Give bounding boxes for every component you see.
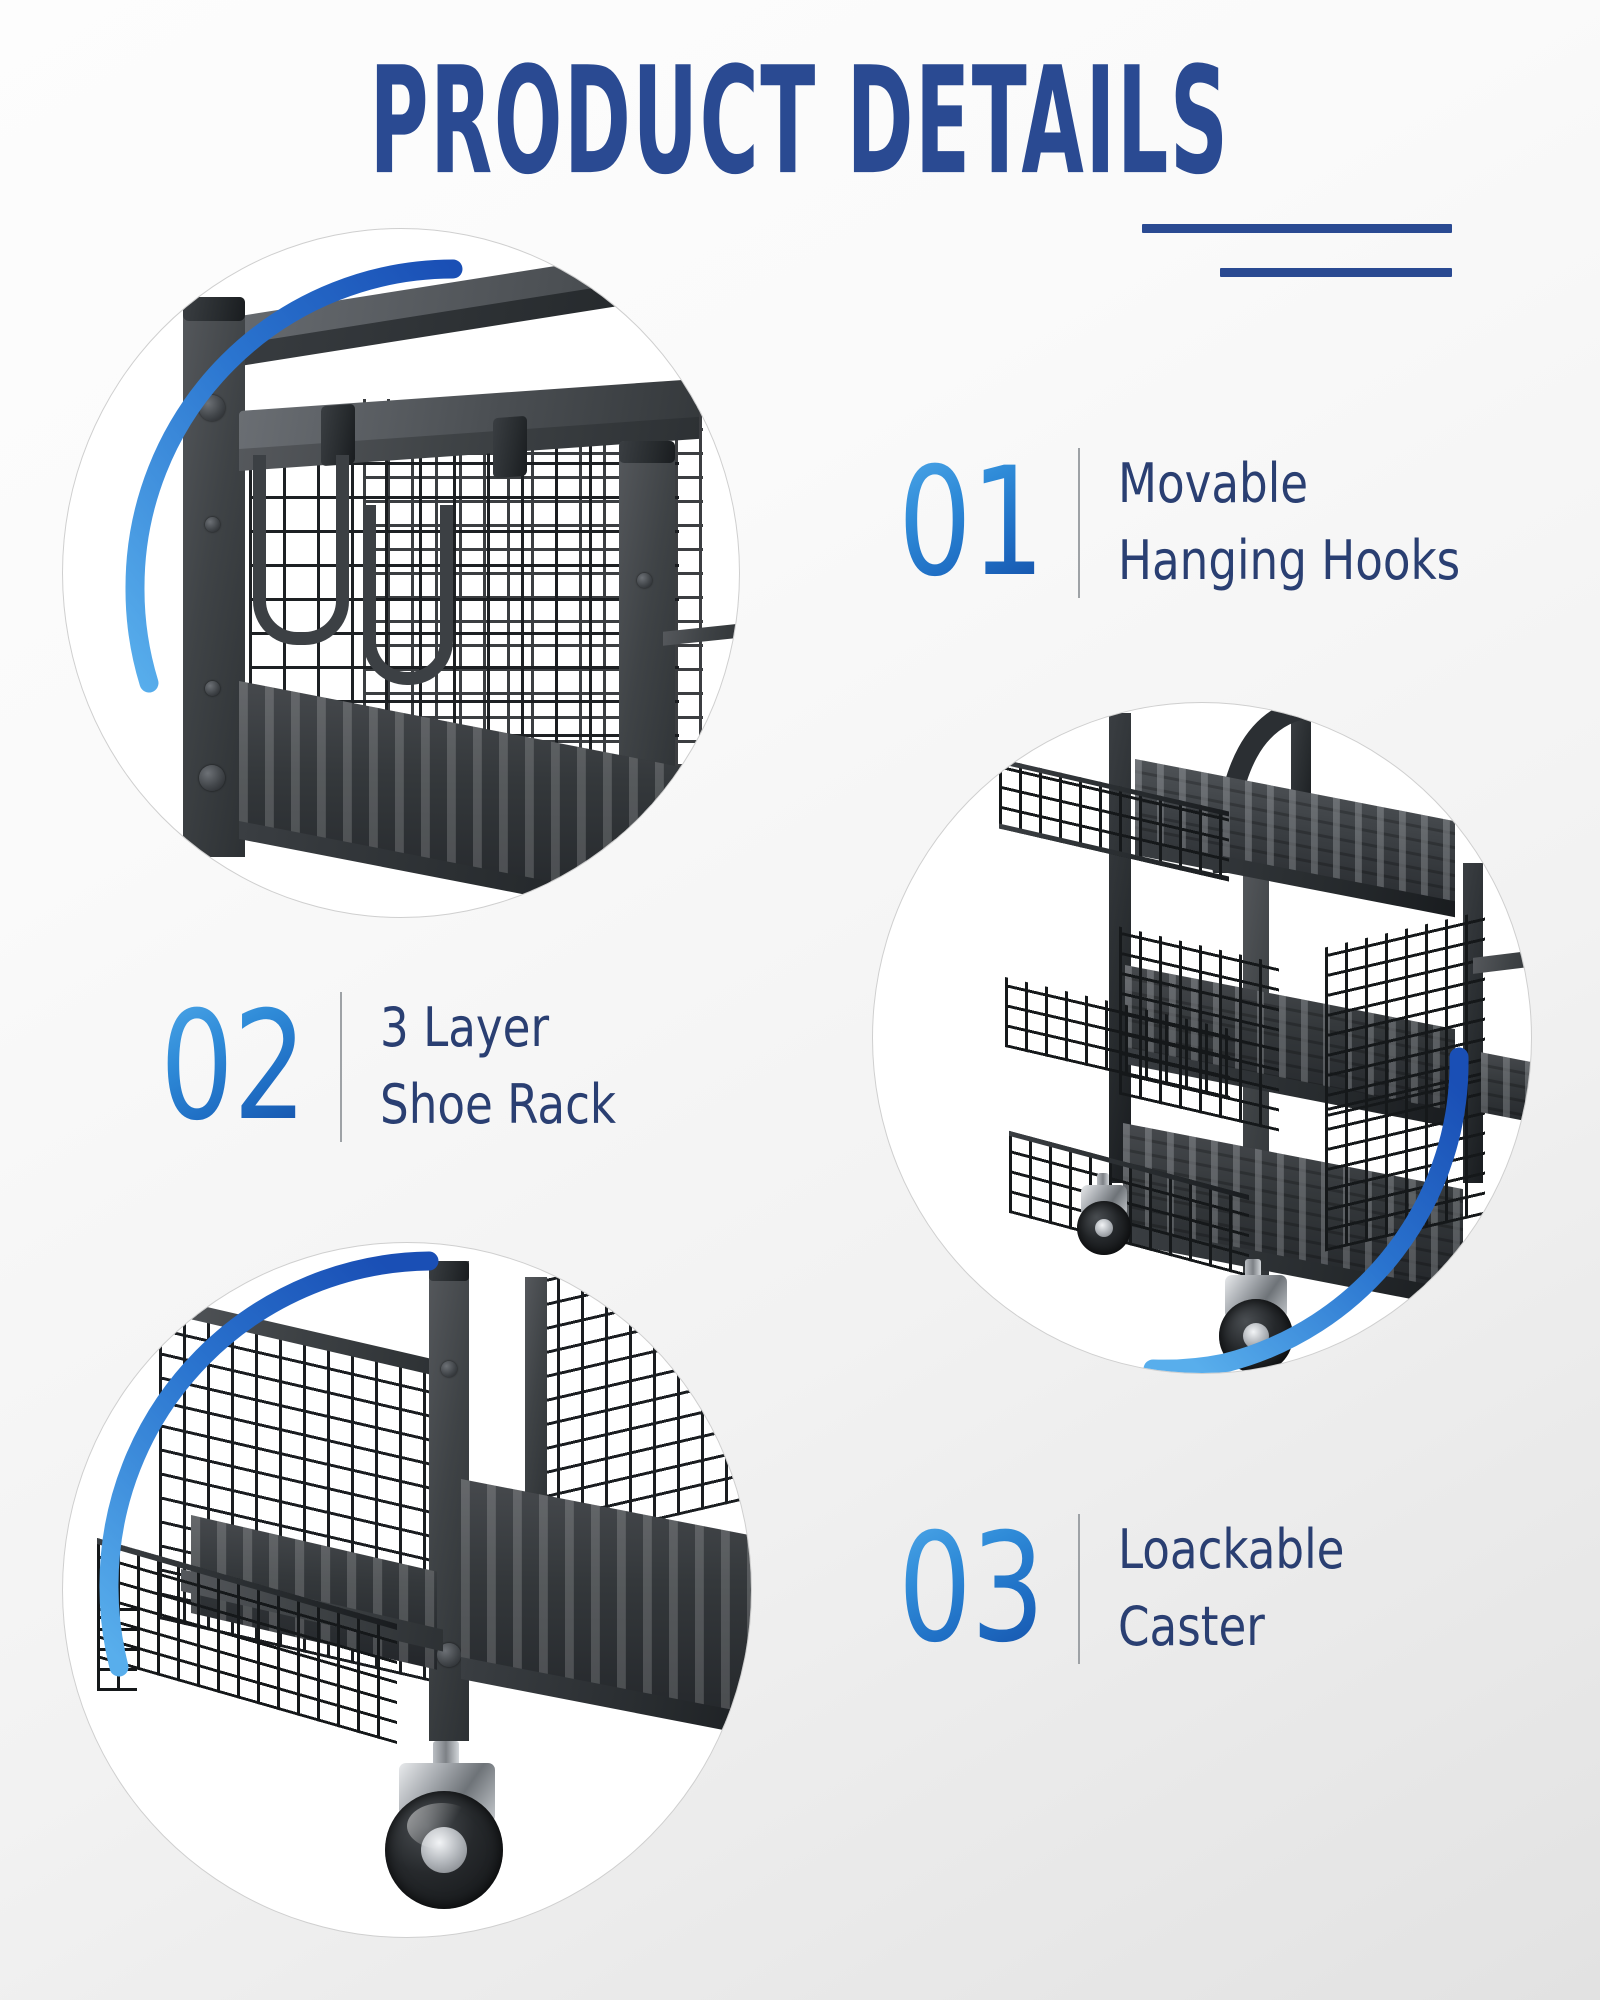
feature-line1-01: Movable bbox=[1118, 446, 1460, 523]
feature-line2-03: Caster bbox=[1118, 1589, 1344, 1666]
feature-text-01: Movable Hanging Hooks bbox=[1118, 446, 1486, 599]
feature-photo-shoe-rack bbox=[872, 702, 1532, 1374]
feature-block-02: 02 3 Layer Shoe Rack bbox=[160, 990, 634, 1143]
feature-text-03: Loackable Caster bbox=[1118, 1512, 1362, 1665]
feature-divider-03 bbox=[1078, 1514, 1080, 1664]
feature-line1-03: Loackable bbox=[1118, 1512, 1344, 1589]
title-underline-short bbox=[1220, 268, 1452, 277]
feature-photo-lockable-caster bbox=[62, 1242, 752, 1938]
feature-photo-hanging-hooks bbox=[62, 228, 740, 918]
feature-line2-02: Shoe Rack bbox=[380, 1067, 616, 1144]
feature-line2-01: Hanging Hooks bbox=[1118, 523, 1460, 600]
feature-divider-02 bbox=[340, 992, 342, 1142]
feature-block-01: 01 Movable Hanging Hooks bbox=[898, 446, 1486, 599]
caster-scene bbox=[63, 1243, 751, 1937]
hanging-hook-1 bbox=[253, 455, 349, 645]
feature-text-02: 3 Layer Shoe Rack bbox=[380, 990, 634, 1143]
hanging-hook-2 bbox=[363, 505, 453, 685]
feature-number-02: 02 bbox=[160, 998, 306, 1136]
page-title: PRODUCT DETAILS bbox=[370, 48, 1230, 196]
infographic-canvas: PRODUCT DETAILS bbox=[0, 0, 1600, 2000]
feature-number-01: 01 bbox=[898, 454, 1044, 592]
feature-number-03: 03 bbox=[898, 1520, 1044, 1658]
title-underline-long bbox=[1142, 224, 1452, 233]
feature-line1-02: 3 Layer bbox=[380, 990, 616, 1067]
page-title-wrap: PRODUCT DETAILS bbox=[0, 48, 1600, 160]
feature-block-03: 03 Loackable Caster bbox=[898, 1512, 1361, 1665]
feature-divider-01 bbox=[1078, 448, 1080, 598]
hooks-scene bbox=[63, 229, 739, 917]
shoe-rack-scene bbox=[873, 703, 1531, 1373]
